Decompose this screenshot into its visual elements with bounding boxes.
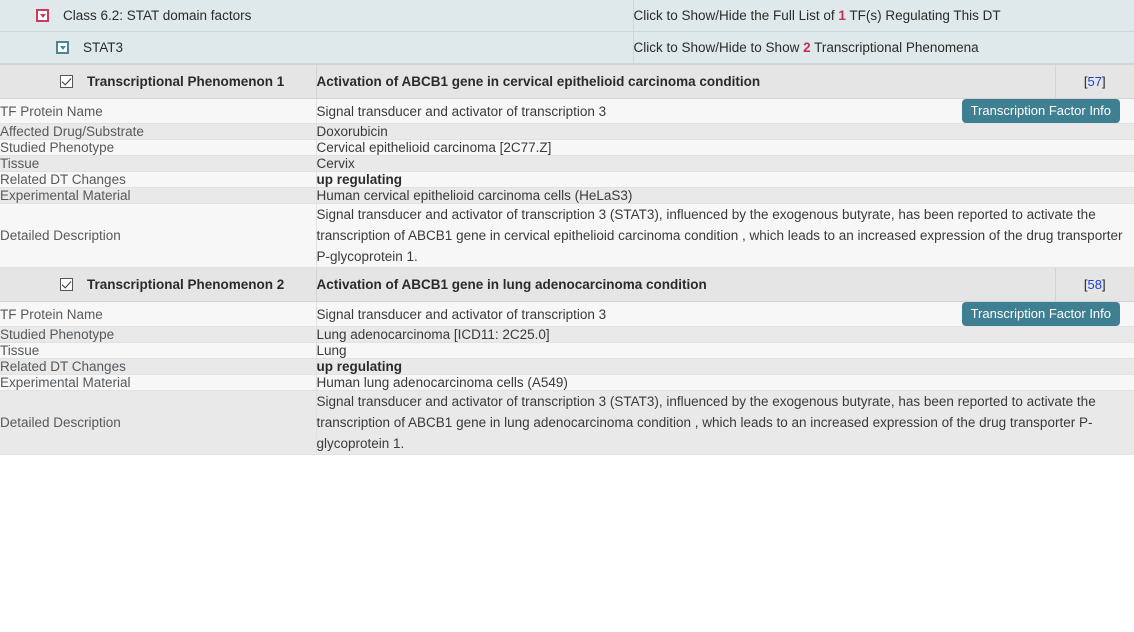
row-value: Human lung adenocarcinoma cells (A549) (316, 375, 1134, 391)
toggle-right-count-class: 1 (838, 8, 846, 23)
phenomenon-header-row: Transcriptional Phenomenon 2Activation o… (0, 268, 1134, 302)
data-row: Detailed DescriptionSignal transducer an… (0, 204, 1134, 268)
toggle-label-stat3: STAT3 (83, 40, 123, 55)
data-row: Experimental MaterialHuman cervical epit… (0, 188, 1134, 204)
toggle-right-suffix-class: TF(s) Regulating This DT (846, 8, 1001, 23)
phenomenon-header-row: Transcriptional Phenomenon 1Activation o… (0, 65, 1134, 99)
toggle-right-prefix-class: Click to Show/Hide the Full List of (634, 8, 839, 23)
phenomenon-name-label: Transcriptional Phenomenon 1 (87, 74, 284, 89)
row-label: Studied Phenotype (0, 327, 316, 343)
row-value-description: Signal transducer and activator of trans… (316, 204, 1134, 268)
data-row: TissueLung (0, 343, 1134, 359)
reference-link[interactable]: [57] (1084, 74, 1106, 89)
top-toggle-container: Class 6.2: STAT domain factorsClick to S… (0, 0, 1134, 65)
phenomenon-name-inner: Transcriptional Phenomenon 2 (0, 268, 316, 301)
triangle-glyph (60, 46, 66, 50)
data-row: TF Protein NameSignal transducer and act… (0, 99, 1134, 124)
phenomenon-name-cell[interactable]: Transcriptional Phenomenon 2 (0, 268, 316, 302)
toggle-inner-stat3: STAT3 (0, 32, 633, 63)
transcription-factor-info-button[interactable]: Transcription Factor Info (962, 302, 1120, 326)
row-label: Affected Drug/Substrate (0, 124, 316, 140)
row-value: Cervix (316, 156, 1134, 172)
row-label: Detailed Description (0, 204, 316, 268)
toggle-right-count-stat3: 2 (803, 40, 811, 55)
data-row: Studied PhenotypeCervical epithelioid ca… (0, 140, 1134, 156)
checkbox-checked-icon[interactable] (60, 75, 73, 88)
collapse-triangle-icon-red[interactable] (36, 9, 49, 22)
row-value: up regulating (316, 172, 1134, 188)
toggle-right-cell-stat3[interactable]: Click to Show/Hide to Show 2 Transcripti… (633, 32, 1134, 64)
data-row: Related DT Changesup regulating (0, 172, 1134, 188)
row-label: Tissue (0, 343, 316, 359)
row-label: Experimental Material (0, 375, 316, 391)
collapse-triangle-icon-teal[interactable] (56, 41, 69, 54)
reference-link-cell[interactable]: [57] (1055, 65, 1134, 99)
phenomenon-name-label: Transcriptional Phenomenon 2 (87, 277, 284, 292)
reference-link-cell[interactable]: [58] (1055, 268, 1134, 302)
data-row: TissueCervix (0, 156, 1134, 172)
row-label: Detailed Description (0, 391, 316, 455)
row-value: Lung adenocarcinoma [ICD11: 2C25.0] (316, 327, 1134, 343)
toggle-left-cell-class[interactable]: Class 6.2: STAT domain factors (0, 0, 633, 32)
row-value: Doxorubicin (316, 124, 1134, 140)
toggle-inner-class: Class 6.2: STAT domain factors (0, 0, 633, 31)
data-row: Studied PhenotypeLung adenocarcinoma [IC… (0, 327, 1134, 343)
row-value: Signal transducer and activator of trans… (316, 302, 1134, 327)
toggle-row-class: Class 6.2: STAT domain factorsClick to S… (0, 0, 1134, 32)
toggle-right-cell-class[interactable]: Click to Show/Hide the Full List of 1 TF… (633, 0, 1134, 32)
checkbox-checked-icon[interactable] (60, 278, 73, 291)
toggle-label-class: Class 6.2: STAT domain factors (63, 8, 251, 23)
row-label: Experimental Material (0, 188, 316, 204)
toggle-left-cell-stat3[interactable]: STAT3 (0, 32, 633, 64)
data-row: Detailed DescriptionSignal transducer an… (0, 391, 1134, 455)
reference-number: 58 (1088, 277, 1102, 292)
row-value-text: Signal transducer and activator of trans… (317, 104, 607, 119)
data-row: Experimental MaterialHuman lung adenocar… (0, 375, 1134, 391)
row-value: Lung (316, 343, 1134, 359)
phenomenon-title: Activation of ABCB1 gene in lung adenoca… (316, 268, 1055, 302)
row-value: Signal transducer and activator of trans… (316, 99, 1134, 124)
reference-link[interactable]: [58] (1084, 277, 1106, 292)
transcription-factor-info-button[interactable]: Transcription Factor Info (962, 99, 1120, 123)
phenomenon-name-cell[interactable]: Transcriptional Phenomenon 1 (0, 65, 316, 99)
data-row: Related DT Changesup regulating (0, 359, 1134, 375)
phenomenon-title: Activation of ABCB1 gene in cervical epi… (316, 65, 1055, 99)
transcription-factor-table: Class 6.2: STAT domain factorsClick to S… (0, 0, 1134, 455)
row-label: Studied Phenotype (0, 140, 316, 156)
reference-bracket-close: ] (1102, 277, 1106, 292)
row-label: Related DT Changes (0, 359, 316, 375)
row-value: up regulating (316, 359, 1134, 375)
row-label: Tissue (0, 156, 316, 172)
row-value: Human cervical epithelioid carcinoma cel… (316, 188, 1134, 204)
toggle-right-prefix-stat3: Click to Show/Hide to Show (634, 40, 804, 55)
row-value-description: Signal transducer and activator of trans… (316, 391, 1134, 455)
data-row: Affected Drug/SubstrateDoxorubicin (0, 124, 1134, 140)
phenomenon-name-inner: Transcriptional Phenomenon 1 (0, 65, 316, 98)
toggle-row-stat3: STAT3Click to Show/Hide to Show 2 Transc… (0, 32, 1134, 64)
row-label: TF Protein Name (0, 99, 316, 124)
row-value-text: Signal transducer and activator of trans… (317, 307, 607, 322)
triangle-glyph (40, 14, 46, 18)
row-value: Cervical epithelioid carcinoma [2C77.Z] (316, 140, 1134, 156)
reference-bracket-close: ] (1102, 74, 1106, 89)
toggle-right-suffix-stat3: Transcriptional Phenomena (811, 40, 979, 55)
data-row: TF Protein NameSignal transducer and act… (0, 302, 1134, 327)
row-label: TF Protein Name (0, 302, 316, 327)
row-label: Related DT Changes (0, 172, 316, 188)
reference-number: 57 (1088, 74, 1102, 89)
